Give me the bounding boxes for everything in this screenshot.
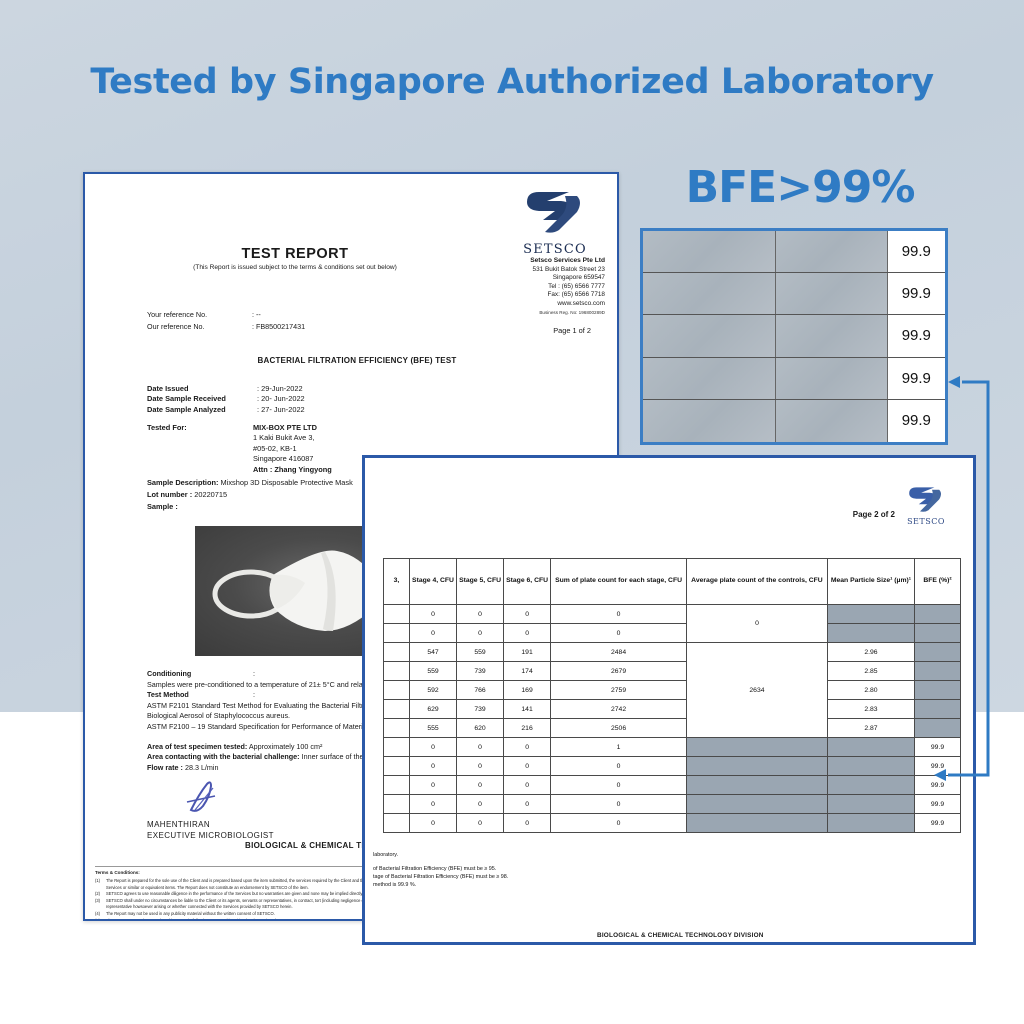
lot-number-value: 20220715 xyxy=(194,490,227,499)
company-fax: Fax: (65) 6566 7718 xyxy=(547,291,605,298)
cell-mean-particle-size: 2.83 xyxy=(827,700,914,719)
zoom-cell-blurred xyxy=(643,400,776,442)
cell-stage6: 0 xyxy=(504,795,551,814)
contact-area-label: Area contacting with the bacterial chall… xyxy=(147,752,300,761)
setsco-logo-icon xyxy=(897,486,955,517)
zoom-cell-blurred xyxy=(643,231,776,272)
cell-stage4: 592 xyxy=(410,681,457,700)
table-row: 0000 xyxy=(384,624,961,643)
setsco-s-icon xyxy=(525,190,585,236)
page2-notes: laboratory. of Bacterial Filtration Effi… xyxy=(373,851,813,889)
cell-stage6: 0 xyxy=(504,738,551,757)
cell-avg-controls-shaded xyxy=(687,795,828,814)
table-row: 000099.9 xyxy=(384,795,961,814)
cell-stage4: 555 xyxy=(410,719,457,738)
table-body: 000000000547559191248426342.965597391742… xyxy=(384,605,961,833)
cell-stage5: 0 xyxy=(457,814,504,833)
cell-avg-controls-shaded xyxy=(687,757,828,776)
cell-stage5: 0 xyxy=(457,624,504,643)
your-reference-label: Your reference No. xyxy=(147,309,252,321)
cell-sum: 0 xyxy=(551,605,687,624)
cell-stage6: 0 xyxy=(504,605,551,624)
client-company: MIX-BOX PTE LTD xyxy=(253,423,317,432)
test-report-page-2[interactable]: Page 2 of 2 SETSCO 3, Stage 4, CFU Stage… xyxy=(362,455,976,945)
setsco-logo-page2: SETSCO xyxy=(897,486,955,526)
terms-item-number: (4) xyxy=(95,911,103,918)
cell-bfe xyxy=(915,719,961,738)
company-address-2: Singapore 659547 xyxy=(553,274,605,281)
cell-stage5: 0 xyxy=(457,776,504,795)
cell-index xyxy=(384,624,410,643)
cell-stage6: 0 xyxy=(504,776,551,795)
client-address-2: #05-02, KB-1 xyxy=(253,444,297,453)
table-row: 547559191248426342.96 xyxy=(384,643,961,662)
poster-canvas: Tested by Singapore Authorized Laborator… xyxy=(0,0,1024,1024)
cell-stage6: 0 xyxy=(504,814,551,833)
cell-stage6: 141 xyxy=(504,700,551,719)
bfe-badge: BFE>99% xyxy=(655,162,945,213)
cell-avg-controls-shaded xyxy=(687,738,828,757)
cell-avg-controls-shaded xyxy=(687,776,828,795)
sample-description-label: Sample Description: xyxy=(147,478,218,487)
date-analyzed-value: : 27- Jun-2022 xyxy=(257,405,305,415)
cell-sum: 0 xyxy=(551,814,687,833)
company-name: Setsco Services Pte Ltd xyxy=(530,257,605,264)
note-line: tage of Bacterial Filtration Efficiency … xyxy=(373,873,813,881)
cell-mean-particle-size xyxy=(827,605,914,624)
division-name-page2: BIOLOGICAL & CHEMICAL TECHNOLOGY DIVISIO… xyxy=(597,932,764,939)
cell-index xyxy=(384,757,410,776)
signer-name: MAHENTHIRAN xyxy=(147,819,274,830)
tested-for-block: Tested For: MIX-BOX PTE LTD 1 Kaki Bukit… xyxy=(147,423,332,475)
zoom-cell-blurred xyxy=(643,273,776,314)
table-row: 000199.9 xyxy=(384,738,961,757)
bfe-results-table: 3, Stage 4, CFU Stage 5, CFU Stage 6, CF… xyxy=(383,558,961,833)
page-title: Tested by Singapore Authorized Laborator… xyxy=(0,62,1024,102)
cell-bfe: 99.9 xyxy=(915,738,961,757)
reference-block: Your reference No. : -- Our reference No… xyxy=(147,309,305,333)
cell-stage6: 0 xyxy=(504,624,551,643)
cell-index xyxy=(384,605,410,624)
cell-stage4: 547 xyxy=(410,643,457,662)
col-header-stage6: Stage 6, CFU xyxy=(504,559,551,605)
table-row: 99.9 xyxy=(643,231,945,273)
flow-rate-label: Flow rate : xyxy=(147,763,183,772)
date-row: Date Issued : 29-Jun-2022 xyxy=(147,384,305,394)
client-address-3: Singapore 416087 xyxy=(253,454,313,463)
report-subtitle: (This Report is issued subject to the te… xyxy=(85,264,505,271)
zoom-cell-blurred xyxy=(776,231,888,272)
cell-sum: 0 xyxy=(551,795,687,814)
conditioning-colon: : xyxy=(253,669,255,678)
table-row: 000099.9 xyxy=(384,757,961,776)
cell-stage4: 0 xyxy=(410,624,457,643)
table-row: 99.9 xyxy=(643,358,945,400)
cell-stage6: 169 xyxy=(504,681,551,700)
flow-rate-value: 28.3 L/min xyxy=(185,763,219,772)
section-title: BACTERIAL FILTRATION EFFICIENCY (BFE) TE… xyxy=(147,356,567,365)
cell-stage5: 766 xyxy=(457,681,504,700)
client-address-1: 1 Kaki Bukit Ave 3, xyxy=(253,433,315,442)
cell-index xyxy=(384,776,410,795)
cell-sum: 0 xyxy=(551,624,687,643)
company-tel: Tel : (65) 6566 7777 xyxy=(548,283,605,290)
sample-description-value: Mixshop 3D Disposable Protective Mask xyxy=(221,478,353,487)
cell-mean-particle-size xyxy=(827,814,914,833)
date-issued-value: : 29-Jun-2022 xyxy=(257,384,303,394)
cell-index xyxy=(384,814,410,833)
zoom-cell-blurred xyxy=(776,358,888,399)
cell-sum: 2742 xyxy=(551,700,687,719)
test-method-label: Test Method xyxy=(147,690,253,701)
cell-stage4: 0 xyxy=(410,814,457,833)
bfe-value: 99.9 xyxy=(888,400,945,442)
col-header-stage4: Stage 4, CFU xyxy=(410,559,457,605)
setsco-logo-icon xyxy=(507,190,603,241)
terms-item-text: The Report may not be used in any public… xyxy=(106,911,275,918)
cell-bfe: 99.9 xyxy=(915,776,961,795)
company-registration: Business Reg. No: 196800289D xyxy=(539,310,605,315)
cell-bfe xyxy=(915,700,961,719)
cell-stage5: 0 xyxy=(457,795,504,814)
reference-row: Our reference No. : FB8500217431 xyxy=(147,321,305,333)
cell-bfe xyxy=(915,605,961,624)
cell-stage5: 559 xyxy=(457,643,504,662)
area-value: Approximately 100 cm² xyxy=(249,742,323,751)
conditioning-label: Conditioning xyxy=(147,669,253,680)
cell-sum: 2759 xyxy=(551,681,687,700)
cell-index xyxy=(384,681,410,700)
bfe-value: 99.9 xyxy=(888,358,945,399)
zoom-cell-blurred xyxy=(643,358,776,399)
dates-block: Date Issued : 29-Jun-2022 Date Sample Re… xyxy=(147,384,305,415)
terms-item-number: (2) xyxy=(95,891,103,898)
cell-stage4: 559 xyxy=(410,662,457,681)
col-header-mean-particle-size: Mean Particle Size¹ (µm)¹ xyxy=(827,559,914,605)
setsco-logo-text: SETSCO xyxy=(897,517,955,526)
bfe-value: 99.9 xyxy=(888,231,945,272)
cell-stage5: 0 xyxy=(457,605,504,624)
table-row: 59276616927592.80 xyxy=(384,681,961,700)
terms-item-number: (3) xyxy=(95,898,103,911)
cell-stage4: 0 xyxy=(410,757,457,776)
cell-stage4: 0 xyxy=(410,605,457,624)
date-received-value: : 20- Jun-2022 xyxy=(257,394,305,404)
table-row: 00000 xyxy=(384,605,961,624)
col-header-bfe: BFE (%)² xyxy=(915,559,961,605)
company-address-1: 531 Bukit Batok Street 23 xyxy=(533,266,605,273)
cell-mean-particle-size xyxy=(827,795,914,814)
sample-block: Sample Description: Mixshop 3D Disposabl… xyxy=(147,477,353,513)
signature-icon xyxy=(181,780,241,814)
cell-stage6: 216 xyxy=(504,719,551,738)
cell-mean-particle-size xyxy=(827,738,914,757)
cell-bfe xyxy=(915,624,961,643)
cell-mean-particle-size xyxy=(827,624,914,643)
cell-stage4: 0 xyxy=(410,776,457,795)
zoom-cell-blurred xyxy=(776,315,888,356)
col-header-avg-controls: Average plate count of the controls, CFU xyxy=(687,559,828,605)
cell-stage5: 0 xyxy=(457,738,504,757)
cell-bfe xyxy=(915,681,961,700)
cell-mean-particle-size: 2.80 xyxy=(827,681,914,700)
cell-index xyxy=(384,662,410,681)
table-row: 000099.9 xyxy=(384,776,961,795)
cell-index xyxy=(384,738,410,757)
cell-sum: 0 xyxy=(551,757,687,776)
table-row: 55973917426792.85 xyxy=(384,662,961,681)
terms-item-number: (1) xyxy=(95,878,103,891)
cell-index xyxy=(384,719,410,738)
table-row: 99.9 xyxy=(643,315,945,357)
note-line: method is 99.9 %. xyxy=(373,881,813,889)
cell-stage5: 0 xyxy=(457,757,504,776)
date-issued-label: Date Issued xyxy=(147,384,257,394)
cell-mean-particle-size: 2.85 xyxy=(827,662,914,681)
company-address-block: Setsco Services Pte Ltd 531 Bukit Batok … xyxy=(445,257,605,317)
sample-label: Sample : xyxy=(147,502,178,511)
report-title: TEST REPORT xyxy=(85,246,505,262)
signer-title: EXECUTIVE MICROBIOLOGIST xyxy=(147,830,274,841)
cell-bfe xyxy=(915,643,961,662)
cell-bfe: 99.9 xyxy=(915,757,961,776)
reference-row: Your reference No. : -- xyxy=(147,309,305,321)
cell-avg-controls: 0 xyxy=(687,605,828,643)
table-row: 99.9 xyxy=(643,400,945,442)
cell-stage6: 191 xyxy=(504,643,551,662)
date-row: Date Sample Received : 20- Jun-2022 xyxy=(147,394,305,404)
table-row: 55562021625062.87 xyxy=(384,719,961,738)
cell-bfe: 99.9 xyxy=(915,814,961,833)
cell-index xyxy=(384,795,410,814)
cell-sum: 2506 xyxy=(551,719,687,738)
cell-avg-controls: 2634 xyxy=(687,643,828,738)
lot-number-label: Lot number : xyxy=(147,490,192,499)
zoom-cell-blurred xyxy=(776,273,888,314)
our-reference-label: Our reference No. xyxy=(147,321,252,333)
col-header-stage5: Stage 5, CFU xyxy=(457,559,504,605)
cell-mean-particle-size xyxy=(827,757,914,776)
setsco-logo: SETSCO xyxy=(507,190,603,257)
cell-mean-particle-size xyxy=(827,776,914,795)
cell-stage5: 739 xyxy=(457,662,504,681)
your-reference-value: : -- xyxy=(252,309,261,321)
cell-bfe: 99.9 xyxy=(915,795,961,814)
signer-block: MAHENTHIRAN EXECUTIVE MICROBIOLOGIST xyxy=(147,819,274,841)
client-attention: Attn : Zhang Yingyong xyxy=(253,465,332,474)
cell-stage6: 0 xyxy=(504,757,551,776)
setsco-logo-text: SETSCO xyxy=(507,242,603,257)
setsco-s-icon xyxy=(908,486,944,514)
page-1-indicator: Page 1 of 2 xyxy=(553,326,591,335)
cell-mean-particle-size: 2.96 xyxy=(827,643,914,662)
col-header-sum: Sum of plate count for each stage, CFU xyxy=(551,559,687,605)
cell-sum: 0 xyxy=(551,776,687,795)
cell-avg-controls-shaded xyxy=(687,814,828,833)
cell-sum: 1 xyxy=(551,738,687,757)
date-analyzed-label: Date Sample Analyzed xyxy=(147,405,257,415)
note-line: laboratory. xyxy=(373,851,813,859)
cell-stage5: 620 xyxy=(457,719,504,738)
cell-bfe xyxy=(915,662,961,681)
note-line: of Bacterial Filtration Efficiency (BFE)… xyxy=(373,865,813,873)
date-received-label: Date Sample Received xyxy=(147,394,257,404)
cell-sum: 2484 xyxy=(551,643,687,662)
our-reference-value: : FB8500217431 xyxy=(252,321,305,333)
zoom-cell-blurred xyxy=(643,315,776,356)
cell-sum: 2679 xyxy=(551,662,687,681)
table-row: 000099.9 xyxy=(384,814,961,833)
company-website: www.setsco.com xyxy=(557,300,605,307)
bfe-zoom-table: 99.9 99.9 99.9 99.9 99.9 xyxy=(640,228,948,445)
table-row: 62973914127422.83 xyxy=(384,700,961,719)
bfe-value: 99.9 xyxy=(888,273,945,314)
zoom-cell-blurred xyxy=(776,400,888,442)
terms-item-number: (5) xyxy=(95,918,103,921)
cell-stage4: 0 xyxy=(410,738,457,757)
cell-index xyxy=(384,700,410,719)
col-header-index: 3, xyxy=(384,559,410,605)
area-label: Area of test specimen tested: xyxy=(147,742,247,751)
cell-stage6: 174 xyxy=(504,662,551,681)
test-method-colon: : xyxy=(253,690,255,699)
bfe-value: 99.9 xyxy=(888,315,945,356)
cell-mean-particle-size: 2.87 xyxy=(827,719,914,738)
cell-stage4: 629 xyxy=(410,700,457,719)
terms-item-text: The Report may not be reproduced in part… xyxy=(106,918,298,921)
table-row: 99.9 xyxy=(643,273,945,315)
date-row: Date Sample Analyzed : 27- Jun-2022 xyxy=(147,405,305,415)
table-header-row: 3, Stage 4, CFU Stage 5, CFU Stage 6, CF… xyxy=(384,559,961,605)
cell-index xyxy=(384,643,410,662)
cell-stage5: 739 xyxy=(457,700,504,719)
cell-stage4: 0 xyxy=(410,795,457,814)
page-2-indicator: Page 2 of 2 xyxy=(853,510,895,519)
